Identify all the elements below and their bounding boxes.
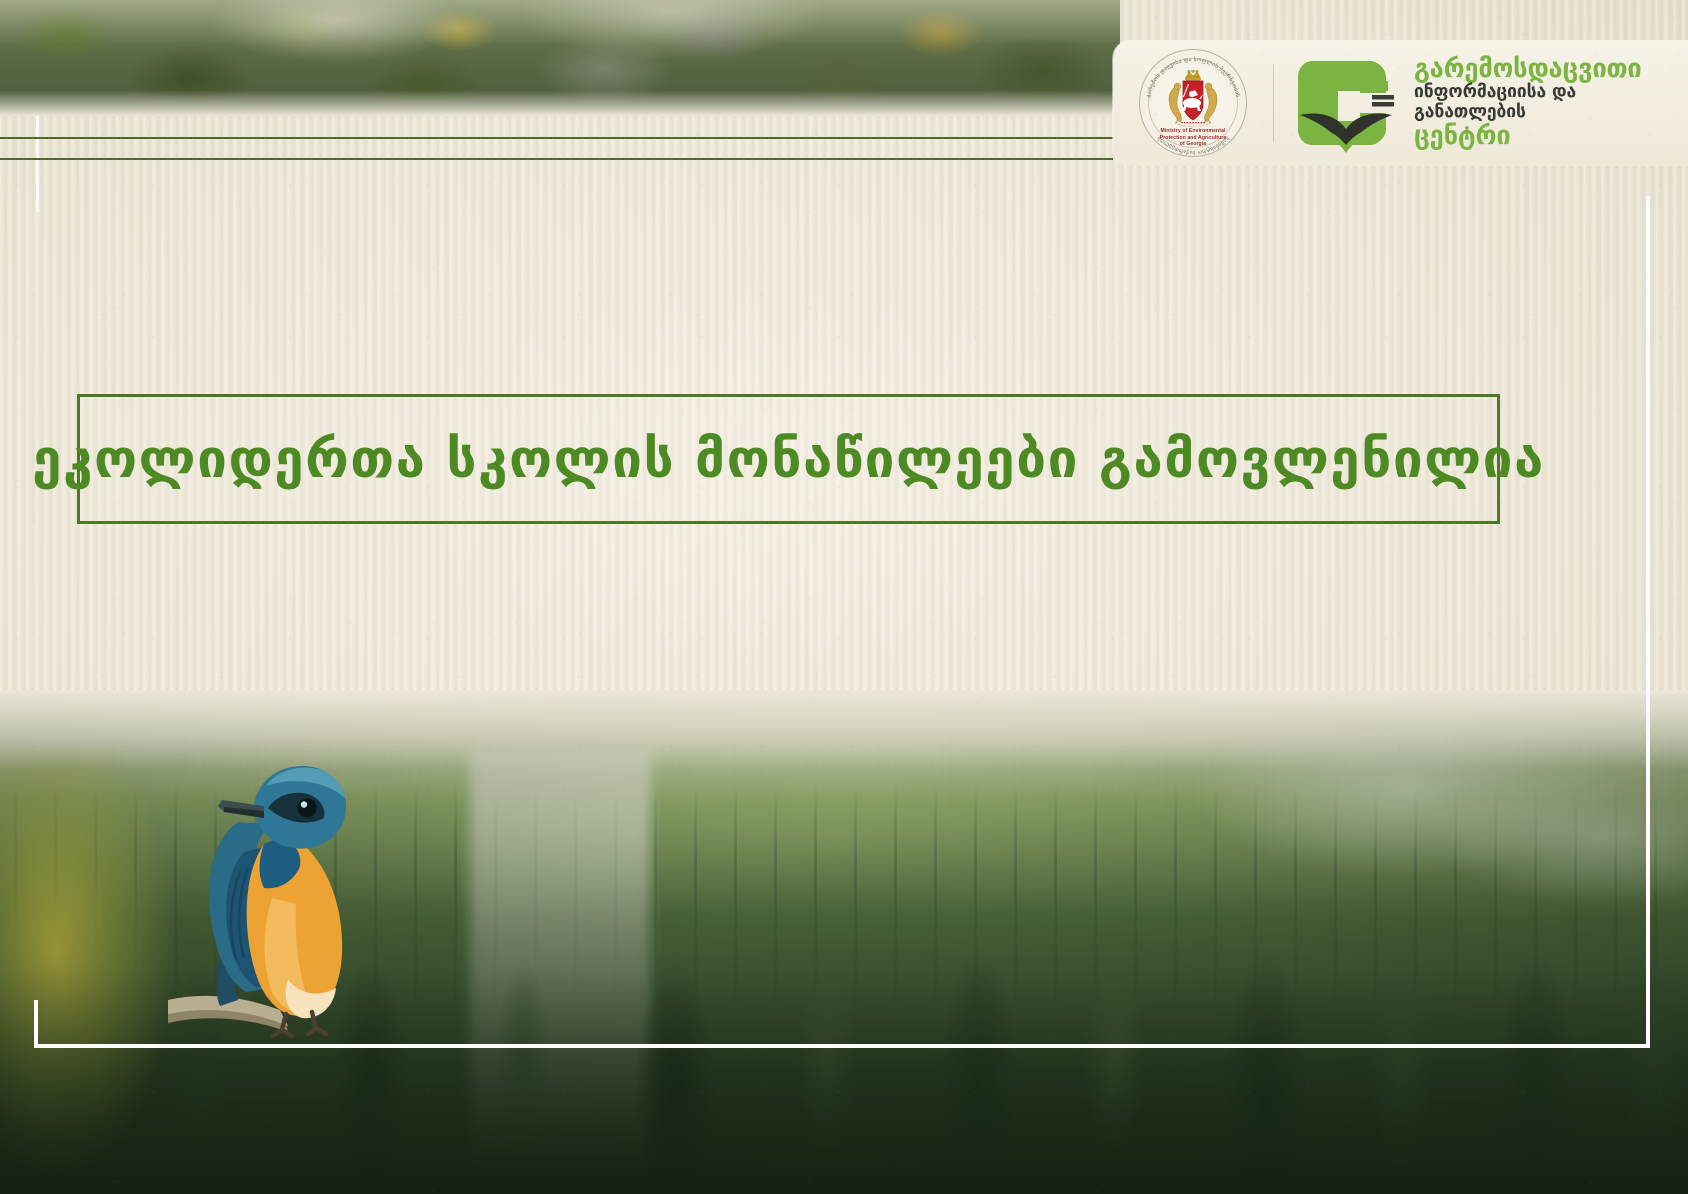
coat-of-arms-icon: [1162, 70, 1224, 128]
wordmark-line-1: გარემოსდაცვითი: [1414, 56, 1688, 82]
blue-throated-flycatcher-bird-icon: [168, 748, 378, 1038]
wordmark-line-2: ინფორმაციისა და განათლების: [1414, 82, 1688, 123]
open-book-leaf-mark-icon: [1296, 51, 1400, 155]
seal-english-line-3: of Georgia: [1139, 141, 1247, 148]
decorative-rule-top: [0, 137, 1113, 139]
wordmark-line-3: ცენტრი: [1414, 123, 1688, 150]
eiec-wordmark: გარემოსდაცვითი ინფორმაციისა და განათლები…: [1414, 56, 1688, 150]
page-title: ეკოლიდერთა სკოლის მონაწილეები გამოვლენილ…: [32, 433, 1545, 486]
frame-line-left: [34, 1000, 38, 1048]
seal-english-text: Ministry of Environmental Protection and…: [1139, 128, 1247, 148]
frame-line-right: [1646, 196, 1650, 1048]
vertical-white-accent-line: [36, 116, 39, 212]
bird-eye-icon: [298, 799, 317, 818]
frame-line-bottom: [34, 1044, 1650, 1048]
poster-canvas: გარემოს დაცვისა და სოფლის მეურნეობის სამ…: [0, 0, 1688, 1194]
ministry-seal: გარემოს დაცვისა და სოფლის მეურნეობის სამ…: [1139, 49, 1247, 157]
eiec-logo: გარემოსდაცვითი ინფორმაციისა და განათლები…: [1296, 51, 1688, 155]
decorative-rule-bottom: [0, 158, 1113, 160]
top-photo-bottom-fade: [0, 90, 1120, 116]
logo-panel: გარემოს დაცვისა და სოფლის მეურნეობის სამ…: [1113, 40, 1688, 166]
logo-panel-divider: [1273, 64, 1274, 142]
title-box: ეკოლიდერთა სკოლის მონაწილეები გამოვლენილ…: [77, 394, 1500, 524]
top-forest-photo-strip: [0, 0, 1120, 116]
